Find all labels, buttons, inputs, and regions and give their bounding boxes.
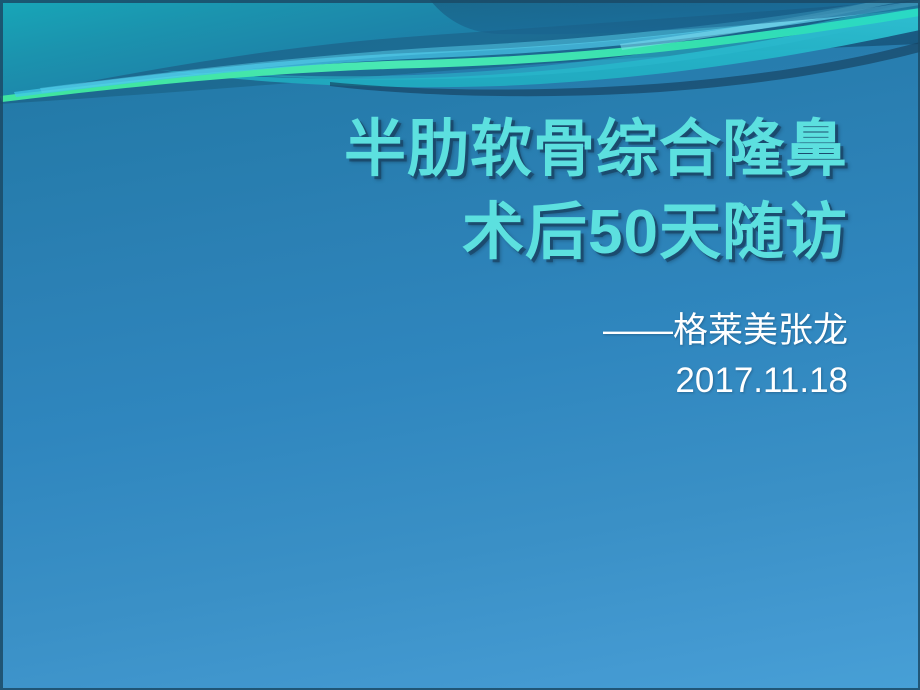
slide-title: 半肋软骨综合隆鼻 术后50天随访 — [0, 108, 884, 274]
title-line-2: 术后50天随访 — [0, 191, 848, 274]
slide-subtitle: ——格莱美张龙 2017.11.18 — [0, 306, 884, 407]
subtitle-author: ——格莱美张龙 — [0, 306, 848, 356]
title-line-1: 半肋软骨综合隆鼻 — [0, 108, 848, 191]
presentation-slide: 半肋软骨综合隆鼻 术后50天随访 ——格莱美张龙 2017.11.18 — [0, 0, 920, 690]
subtitle-date: 2017.11.18 — [0, 356, 848, 406]
